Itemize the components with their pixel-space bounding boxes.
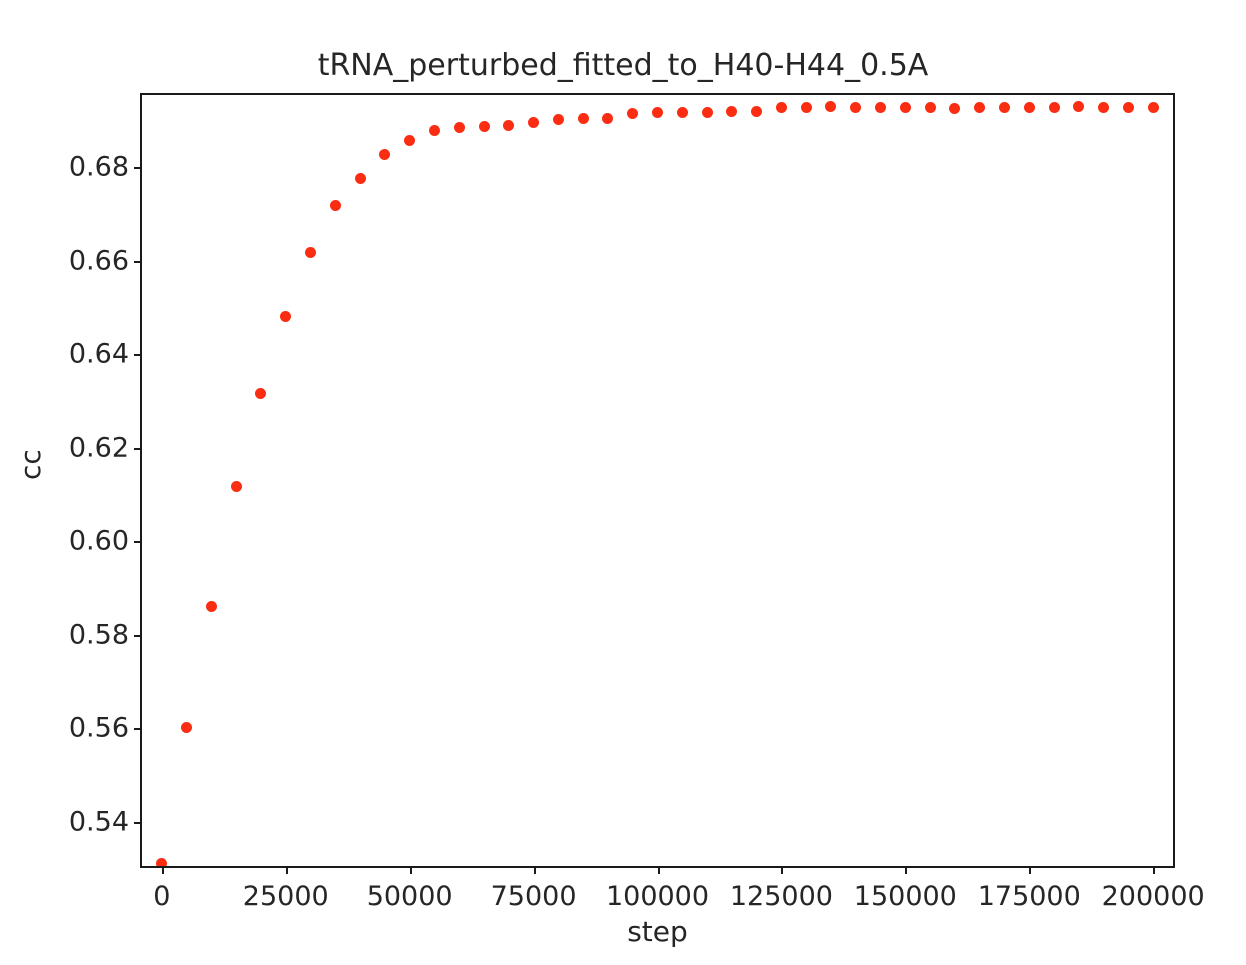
y-axis-tick-label: 0.60 <box>69 526 129 557</box>
chart-title: tRNA_perturbed_fitted_to_H40-H44_0.5A <box>0 48 1246 83</box>
data-point <box>776 102 787 113</box>
chart-figure: tRNA_perturbed_fitted_to_H40-H44_0.5A 0.… <box>0 0 1246 965</box>
y-axis-tick <box>134 541 142 543</box>
data-point <box>751 106 762 117</box>
x-axis-tick <box>1029 866 1031 874</box>
plot-axes: 0.540.560.580.600.620.640.660.6802500050… <box>140 93 1175 868</box>
data-point <box>479 121 490 132</box>
x-axis-tick-label: 175000 <box>978 881 1081 912</box>
data-point <box>974 102 985 113</box>
x-axis-tick <box>410 866 412 874</box>
data-point <box>1049 102 1060 113</box>
data-point <box>206 601 217 612</box>
data-point <box>702 107 713 118</box>
data-point <box>925 102 936 113</box>
data-point <box>602 113 613 124</box>
data-point <box>156 858 167 866</box>
y-axis-tick-label: 0.54 <box>69 806 129 837</box>
data-point <box>875 102 886 113</box>
data-point <box>181 722 192 733</box>
data-point <box>255 388 266 399</box>
data-point <box>900 102 911 113</box>
data-point <box>404 135 415 146</box>
x-axis-tick-label: 100000 <box>606 881 709 912</box>
y-axis-tick-label: 0.56 <box>69 713 129 744</box>
y-axis-tick-label: 0.62 <box>69 432 129 463</box>
data-point <box>231 481 242 492</box>
y-axis-tick <box>134 448 142 450</box>
data-point <box>503 120 514 131</box>
data-point <box>677 107 688 118</box>
data-point <box>280 311 291 322</box>
data-point <box>1148 102 1159 113</box>
y-axis-tick-label: 0.66 <box>69 245 129 276</box>
x-axis-tick <box>905 866 907 874</box>
x-axis-label: step <box>140 915 1175 948</box>
data-point <box>528 117 539 128</box>
data-point <box>627 108 638 119</box>
y-axis-tick <box>134 635 142 637</box>
x-axis-tick <box>534 866 536 874</box>
y-axis-label: cc <box>14 449 47 480</box>
x-axis-tick-label: 75000 <box>491 881 577 912</box>
x-axis-tick <box>162 866 164 874</box>
x-axis-tick-label: 50000 <box>367 881 453 912</box>
y-axis-tick-label: 0.58 <box>69 619 129 650</box>
x-axis-tick-label: 0 <box>153 881 170 912</box>
x-axis-tick <box>658 866 660 874</box>
data-point <box>850 102 861 113</box>
x-axis-tick-label: 200000 <box>1102 881 1205 912</box>
data-point <box>429 125 440 136</box>
data-point <box>1024 102 1035 113</box>
y-axis-tick-label: 0.68 <box>69 152 129 183</box>
x-axis-tick-label: 150000 <box>854 881 957 912</box>
scatter-plot-area <box>142 95 1173 866</box>
x-axis-tick <box>1153 866 1155 874</box>
y-axis-tick-label: 0.64 <box>69 339 129 370</box>
data-point <box>999 102 1010 113</box>
data-point <box>553 114 564 125</box>
data-point <box>578 113 589 124</box>
y-axis-tick <box>134 261 142 263</box>
data-point <box>1123 102 1134 113</box>
data-point <box>355 173 366 184</box>
data-point <box>1098 102 1109 113</box>
data-point <box>305 247 316 258</box>
y-axis-tick <box>134 728 142 730</box>
data-point <box>1073 101 1084 112</box>
data-point <box>652 107 663 118</box>
data-point <box>825 101 836 112</box>
data-point <box>454 122 465 133</box>
data-point <box>801 102 812 113</box>
x-axis-tick <box>286 866 288 874</box>
x-axis-tick-label: 25000 <box>243 881 329 912</box>
y-axis-tick <box>134 167 142 169</box>
data-point <box>330 200 341 211</box>
x-axis-tick <box>781 866 783 874</box>
data-point <box>726 106 737 117</box>
y-axis-tick <box>134 354 142 356</box>
x-axis-tick-label: 125000 <box>730 881 833 912</box>
data-point <box>379 149 390 160</box>
data-point <box>949 103 960 114</box>
y-axis-tick <box>134 822 142 824</box>
